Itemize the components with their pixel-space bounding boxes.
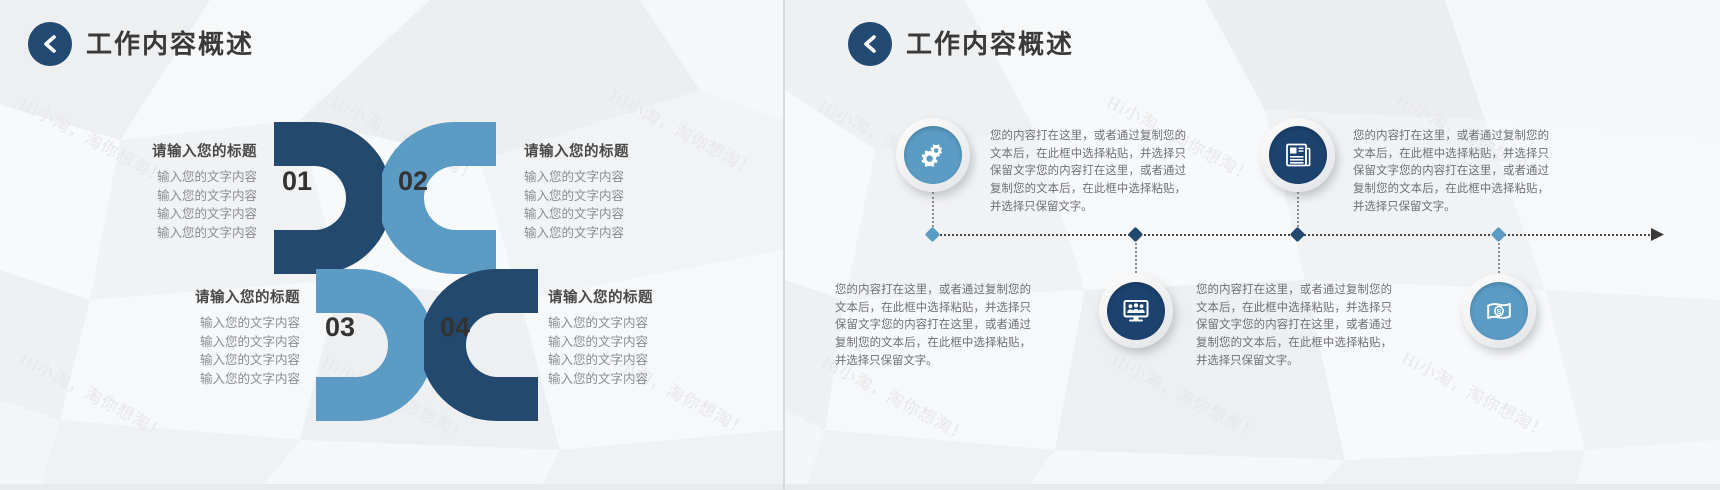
newspaper-icon [1284, 141, 1312, 169]
timeline-text-body: 您的内容打在这里，或者通过复制您的文本后，在此框中选择粘贴，并选择只保留文字您的… [1196, 282, 1392, 370]
ring-shape-04[interactable] [424, 265, 542, 425]
timeline-text-body: 您的内容打在这里，或者通过复制您的文本后，在此框中选择粘贴，并选择只保留文字您的… [1353, 128, 1549, 216]
item-line: 输入您的文字内容 [47, 168, 257, 187]
back-button[interactable] [28, 22, 72, 66]
item-line: 输入您的文字内容 [47, 205, 257, 224]
timeline-marker-1[interactable] [925, 227, 941, 243]
chevron-left-icon [42, 34, 59, 54]
slide-left-content: 工作内容概述 01 02 03 [0, 0, 783, 490]
timeline-text-2: 您的内容打在这里，或者通过复制您的文本后，在此框中选择粘贴，并选择只保留文字您的… [1353, 128, 1549, 216]
item-text-02: 请输入您的标题 输入您的文字内容 输入您的文字内容 输入您的文字内容 输入您的文… [524, 140, 734, 242]
page-title: 工作内容概述 [86, 31, 254, 57]
slide-header: 工作内容概述 [28, 22, 254, 66]
item-line: 输入您的文字内容 [524, 187, 734, 206]
item-title: 请输入您的标题 [524, 140, 734, 161]
item-text-03: 请输入您的标题 输入您的文字内容 输入您的文字内容 输入您的文字内容 输入您的文… [90, 286, 300, 388]
item-line: 输入您的文字内容 [90, 351, 300, 370]
item-line: 输入您的文字内容 [548, 333, 758, 352]
item-line: 输入您的文字内容 [524, 168, 734, 187]
timeline-text-4: 您的内容打在这里，或者通过复制您的文本后，在此框中选择粘贴，并选择只保留文字您的… [1196, 282, 1392, 370]
item-line: 输入您的文字内容 [524, 224, 734, 243]
item-line: 输入您的文字内容 [90, 370, 300, 389]
item-line: 输入您的文字内容 [47, 187, 257, 206]
timeline-badge-money[interactable]: S [1462, 274, 1536, 348]
item-text-01: 请输入您的标题 输入您的文字内容 输入您的文字内容 输入您的文字内容 输入您的文… [47, 140, 257, 242]
item-line: 输入您的文字内容 [524, 205, 734, 224]
item-line: 输入您的文字内容 [548, 351, 758, 370]
chevron-left-icon [862, 34, 879, 54]
money-icon: S [1484, 296, 1514, 326]
timeline-text-3: 您的内容打在这里，或者通过复制您的文本后，在此框中选择粘贴，并选择只保留文字您的… [835, 282, 1031, 370]
timeline-marker-4[interactable] [1491, 227, 1507, 243]
item-line: 输入您的文字内容 [90, 314, 300, 333]
timeline-badge-monitor-people[interactable] [1099, 274, 1173, 348]
timeline-text-body: 您的内容打在这里，或者通过复制您的文本后，在此框中选择粘贴，并选择只保留文字您的… [835, 282, 1031, 370]
ring-number-02: 02 [398, 166, 428, 197]
svg-text:S: S [1496, 307, 1501, 316]
item-line: 输入您的文字内容 [548, 314, 758, 333]
ring-shape-03[interactable] [312, 265, 430, 425]
timeline-marker-2[interactable] [1128, 227, 1144, 243]
item-title: 请输入您的标题 [47, 140, 257, 161]
timeline-badge-newspaper[interactable] [1261, 118, 1335, 192]
page-title: 工作内容概述 [906, 31, 1074, 57]
item-title: 请输入您的标题 [90, 286, 300, 307]
ring-number-04: 04 [440, 312, 470, 343]
item-line: 输入您的文字内容 [548, 370, 758, 389]
item-text-04: 请输入您的标题 输入您的文字内容 输入您的文字内容 输入您的文字内容 输入您的文… [548, 286, 758, 388]
ring-shape-02[interactable] [382, 118, 500, 278]
item-line: 输入您的文字内容 [90, 333, 300, 352]
ring-number-01: 01 [282, 166, 312, 197]
ring-number-03: 03 [325, 312, 355, 343]
timeline-text-1: 您的内容打在这里，或者通过复制您的文本后，在此框中选择粘贴，并选择只保留文字您的… [990, 128, 1186, 216]
item-line: 输入您的文字内容 [47, 224, 257, 243]
timeline-badge-gears[interactable] [896, 118, 970, 192]
monitor-people-icon [1122, 297, 1150, 325]
slide-right: Hi小淘，淘你想淘！ Hi小淘，淘你想淘！ Hi小淘，淘你想淘！ Hi小淘，淘你… [785, 0, 1720, 490]
timeline-text-body: 您的内容打在这里，或者通过复制您的文本后，在此框中选择粘贴，并选择只保留文字您的… [990, 128, 1186, 216]
timeline-marker-3[interactable] [1290, 227, 1306, 243]
gears-icon [918, 140, 948, 170]
item-title: 请输入您的标题 [548, 286, 758, 307]
back-button[interactable] [848, 22, 892, 66]
screenshot-stage: Hi小淘，淘你想淘！ Hi小淘，淘你想淘！ Hi小淘，淘你想淘！ Hi小淘，淘你… [0, 0, 1720, 490]
slide-left: Hi小淘，淘你想淘！ Hi小淘，淘你想淘！ Hi小淘，淘你想淘！ Hi小淘，淘你… [0, 0, 783, 490]
slide-header: 工作内容概述 [848, 22, 1074, 66]
ring-shape-01[interactable] [270, 118, 388, 278]
arrow-right-icon [1651, 228, 1665, 246]
slide-right-content: 工作内容概述 [785, 0, 1720, 490]
